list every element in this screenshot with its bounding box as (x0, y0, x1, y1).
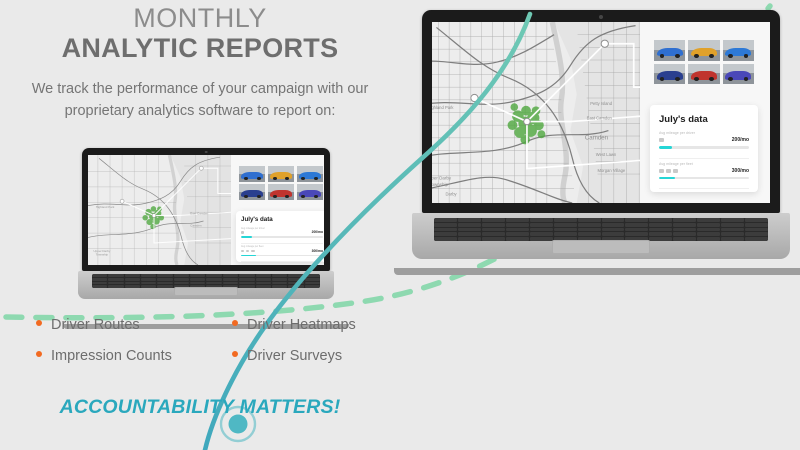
keyboard-key[interactable] (174, 274, 189, 277)
keyboard-key[interactable] (141, 274, 156, 277)
keyboard-key[interactable] (673, 218, 696, 222)
laptop-small-lid: CamdenUpper DarbyTownship Highland ParkE… (82, 148, 330, 271)
keyboard-key[interactable] (141, 278, 156, 281)
metric-divider (241, 261, 323, 262)
keyboard-key[interactable] (602, 232, 625, 236)
keyboard-key[interactable] (745, 228, 768, 232)
keyboard-key[interactable] (272, 274, 287, 277)
keyboard-key[interactable] (108, 285, 123, 288)
keyboard-key[interactable] (125, 282, 140, 285)
keyboard-key[interactable] (506, 232, 529, 236)
keyboard-key[interactable] (697, 218, 720, 222)
keyboard-key[interactable] (157, 282, 172, 285)
bullet-label: Driver Routes (51, 318, 140, 333)
keyboard-key[interactable] (530, 218, 553, 222)
car-wheel (675, 54, 680, 58)
page-title-line2: ANALYTIC REPORTS (0, 34, 400, 64)
keyboard-key[interactable] (157, 274, 172, 277)
keyboard-key[interactable] (434, 237, 457, 241)
bullet-row: Driver Routes Driver Heatmaps (36, 318, 396, 349)
keyboard-key[interactable] (125, 278, 140, 281)
keyboard-key[interactable] (649, 232, 672, 236)
keyboard-key[interactable] (673, 232, 696, 236)
metric-count-icon (659, 169, 678, 173)
car-wheel (728, 54, 733, 58)
keyboard-key[interactable] (305, 282, 320, 285)
keyboard-key[interactable] (434, 232, 457, 236)
keyboard-key[interactable] (458, 223, 481, 227)
map-icon: Camden Upper Darby Township Highland Par… (432, 22, 640, 203)
keyboard-key[interactable] (239, 285, 254, 288)
keyboard-key[interactable] (157, 278, 172, 281)
metrics-list-small: Avg mileage per driver200/moAvg mileage … (241, 227, 323, 263)
keyboard-key[interactable] (206, 274, 221, 277)
car-wheel (709, 54, 714, 58)
camera-icon (205, 151, 208, 154)
intro-paragraph: We track the performance of your campaig… (14, 78, 386, 123)
metrics-list-large: Avg mileage per driver200/moAvg mileage … (659, 131, 749, 192)
bullet-label: Driver Heatmaps (247, 318, 356, 333)
keyboard-key[interactable] (554, 218, 577, 222)
keyboard-key[interactable] (92, 278, 107, 281)
keyboard-key[interactable] (554, 228, 577, 232)
keyboard-key[interactable] (578, 223, 601, 227)
metric-value-row: 300/mo (241, 248, 323, 253)
keyboard-key[interactable] (239, 274, 254, 277)
keyboard-key[interactable] (108, 282, 123, 285)
metric-progress-fill (659, 146, 672, 149)
laptop-large-screen: Camden Upper Darby Township Highland Par… (432, 22, 770, 203)
svg-text:Petty Island: Petty Island (590, 101, 612, 106)
car-wheel (301, 177, 305, 180)
trackpad-small[interactable] (174, 287, 238, 296)
keyboard-key[interactable] (530, 228, 553, 232)
metric-divider (659, 158, 749, 159)
keyboard-key[interactable] (174, 282, 189, 285)
laptop-large: Camden Upper Darby Township Highland Par… (412, 10, 790, 259)
metric-progress-fill (241, 236, 252, 238)
metric-divider (241, 243, 323, 244)
trackpad-large[interactable] (552, 240, 650, 254)
keyboard-key[interactable] (174, 278, 189, 281)
bullet-dot-icon (36, 320, 42, 326)
keyboard-key[interactable] (673, 228, 696, 232)
svg-text:Darby: Darby (446, 192, 458, 197)
keyboard-key[interactable] (190, 282, 205, 285)
keyboard-key[interactable] (625, 232, 648, 236)
keyboard-key[interactable] (721, 218, 744, 222)
keyboard-key[interactable] (530, 237, 553, 241)
feature-bullet-list: Driver Routes Driver Heatmaps Impression… (36, 318, 396, 380)
keyboard-key[interactable] (649, 218, 672, 222)
metric-row: Avg mileage per driver200/mo (659, 131, 749, 149)
keyboard-small[interactable] (92, 274, 320, 288)
bullet-row: Impression Counts Driver Surveys (36, 349, 396, 380)
keyboard-key[interactable] (625, 218, 648, 222)
keyboard-key[interactable] (92, 282, 107, 285)
keyboard-key[interactable] (190, 274, 205, 277)
keyboard-key[interactable] (256, 285, 271, 288)
thumbnail-wrapped-car-navy-red[interactable] (654, 64, 685, 85)
bullet-dot-icon (232, 351, 238, 357)
keyboard-key[interactable] (721, 232, 744, 236)
keyboard-key[interactable] (482, 218, 505, 222)
metric-value: 300/mo (312, 249, 323, 253)
metric-progress-track (659, 146, 749, 149)
metric-count-icon (241, 231, 244, 234)
keyboard-key[interactable] (458, 237, 481, 241)
card-title-large: July's data (659, 114, 749, 125)
keyboard-key[interactable] (141, 285, 156, 288)
thumbnail-wrapped-car-navy-red[interactable] (239, 184, 265, 200)
thumbnail-wrapped-car-yellow-red[interactable] (268, 166, 294, 182)
keyboard-key[interactable] (239, 278, 254, 281)
svg-text:West Lawn: West Lawn (596, 152, 617, 157)
keyboard-key[interactable] (108, 274, 123, 277)
keyboard-key[interactable] (578, 218, 601, 222)
slide-canvas: MONTHLY ANALYTIC REPORTS We track the pe… (0, 0, 800, 450)
camera-icon (599, 15, 603, 19)
svg-text:Highland Park: Highland Park (96, 205, 115, 209)
keyboard-key[interactable] (458, 218, 481, 222)
keyboard-key[interactable] (721, 228, 744, 232)
data-card-small: July's data Avg mileage per driver200/mo… (236, 211, 324, 262)
keyboard-key[interactable] (721, 223, 744, 227)
keyboard-key[interactable] (458, 232, 481, 236)
keyboard-key[interactable] (458, 228, 481, 232)
keyboard-key[interactable] (434, 218, 457, 222)
map-panel-small[interactable]: CamdenUpper DarbyTownship Highland ParkE… (88, 155, 231, 265)
keyboard-key[interactable] (206, 278, 221, 281)
keyboard-key[interactable] (721, 237, 744, 241)
keyboard-key[interactable] (578, 228, 601, 232)
metric-divider (659, 188, 749, 189)
keyboard-key[interactable] (697, 223, 720, 227)
keyboard-key[interactable] (697, 237, 720, 241)
keyboard-key[interactable] (578, 232, 601, 236)
metric-progress-track (659, 177, 749, 180)
metric-value-row: 200/mo (659, 136, 749, 144)
svg-text:East Camden: East Camden (587, 116, 613, 121)
keyboard-key[interactable] (649, 223, 672, 227)
keyboard-key[interactable] (125, 285, 140, 288)
keyboard-key[interactable] (305, 285, 320, 288)
keyboard-key[interactable] (506, 223, 529, 227)
keyboard-key[interactable] (141, 282, 156, 285)
metric-row: Avg impressions per driver20,000/mo (241, 261, 323, 262)
car-wheel (273, 177, 277, 180)
thumbnail-wrapped-car-blue[interactable] (654, 40, 685, 61)
svg-text:Camden: Camden (190, 224, 202, 228)
keyboard-key[interactable] (745, 218, 768, 222)
keyboard-key[interactable] (649, 237, 672, 241)
keyboard-large[interactable] (434, 218, 768, 241)
thumbnail-wrapped-car-violet[interactable] (297, 184, 323, 200)
car-wheel (694, 54, 699, 58)
car-wheel (660, 54, 665, 58)
keyboard-key[interactable] (506, 218, 529, 222)
keyboard-key[interactable] (530, 232, 553, 236)
svg-text:Camden: Camden (585, 135, 609, 142)
keyboard-key[interactable] (482, 232, 505, 236)
bullet-label: Driver Surveys (247, 349, 342, 364)
car-wheel (257, 177, 261, 180)
keyboard-key[interactable] (223, 274, 238, 277)
bullet-dot-icon (36, 351, 42, 357)
car-wheel (244, 177, 248, 180)
svg-text:Upper Darby: Upper Darby (432, 175, 452, 180)
keyboard-key[interactable] (288, 274, 303, 277)
keyboard-key[interactable] (625, 228, 648, 232)
metric-value-row: 200/mo (241, 230, 323, 235)
keyboard-key[interactable] (530, 223, 553, 227)
laptop-small-screen: CamdenUpper DarbyTownship Highland ParkE… (88, 155, 324, 265)
car-wheel (273, 195, 277, 198)
map-icon: CamdenUpper DarbyTownship Highland ParkE… (88, 155, 231, 265)
keyboard-key[interactable] (482, 228, 505, 232)
title-block: MONTHLY ANALYTIC REPORTS (0, 4, 400, 64)
metric-count-icon (659, 138, 664, 142)
keyboard-key[interactable] (239, 282, 254, 285)
bullet-item-driver-heatmaps: Driver Heatmaps (232, 318, 392, 349)
keyboard-key[interactable] (108, 278, 123, 281)
laptop-large-base (412, 213, 790, 259)
bullet-item-driver-routes: Driver Routes (36, 318, 232, 349)
metric-progress-track (241, 236, 323, 238)
metric-progress-track (241, 255, 323, 257)
bullet-label: Impression Counts (51, 349, 172, 364)
keyboard-key[interactable] (272, 285, 287, 288)
car-wheel (257, 195, 261, 198)
map-panel-large[interactable]: Camden Upper Darby Township Highland Par… (432, 22, 640, 203)
dashboard-panel-small: July's data Avg mileage per driver200/mo… (231, 155, 324, 265)
metric-value-row: 300/mo (659, 167, 749, 175)
thumbnail-wrapped-car-blue-white[interactable] (723, 40, 754, 61)
bullet-dot-icon (232, 320, 238, 326)
metric-progress-fill (241, 255, 256, 257)
keyboard-key[interactable] (602, 228, 625, 232)
keyboard-key[interactable] (288, 282, 303, 285)
keyboard-key[interactable] (206, 282, 221, 285)
dashboard-panel-large: July's data Avg mileage per driver200/mo… (640, 22, 770, 203)
thumbnail-wrapped-car-blue-white[interactable] (297, 166, 323, 182)
laptop-large-lid: Camden Upper Darby Township Highland Par… (422, 10, 780, 213)
svg-text:Morgan Village: Morgan Village (598, 168, 626, 173)
metric-row: Avg mileage per fleet300/mo (659, 158, 749, 180)
page-title-line1: MONTHLY (0, 4, 400, 33)
metric-value: 300/mo (732, 168, 749, 174)
keyboard-key[interactable] (434, 223, 457, 227)
keyboard-key[interactable] (434, 228, 457, 232)
svg-text:Township: Township (96, 253, 109, 257)
keyboard-key[interactable] (697, 228, 720, 232)
metric-row: Avg impressions per driver20,000/mo (659, 188, 749, 192)
svg-text:Township: Township (432, 182, 449, 187)
keyboard-key[interactable] (554, 232, 577, 236)
bullet-item-driver-surveys: Driver Surveys (232, 349, 392, 380)
keyboard-key[interactable] (602, 218, 625, 222)
keyboard-key[interactable] (482, 237, 505, 241)
keyboard-key[interactable] (305, 278, 320, 281)
thumbnail-wrapped-car-red[interactable] (268, 184, 294, 200)
keyboard-key[interactable] (157, 285, 172, 288)
keyboard-key[interactable] (288, 285, 303, 288)
thumbnail-wrapped-car-yellow-red[interactable] (688, 40, 719, 61)
keyboard-key[interactable] (649, 228, 672, 232)
keyboard-key[interactable] (697, 232, 720, 236)
keyboard-key[interactable] (92, 274, 107, 277)
keyboard-key[interactable] (125, 274, 140, 277)
keyboard-key[interactable] (506, 228, 529, 232)
laptop-small: CamdenUpper DarbyTownship Highland ParkE… (78, 148, 334, 299)
keyboard-key[interactable] (745, 223, 768, 227)
bullet-item-impression-counts: Impression Counts (36, 349, 232, 380)
keyboard-key[interactable] (288, 278, 303, 281)
keyboard-key[interactable] (602, 223, 625, 227)
thumbnail-grid-large (654, 40, 754, 84)
thumbnail-wrapped-car-violet[interactable] (723, 64, 754, 85)
keyboard-key[interactable] (482, 223, 505, 227)
data-card-large: July's data Avg mileage per driver200/mo… (650, 105, 758, 192)
keyboard-key[interactable] (223, 278, 238, 281)
keyboard-key[interactable] (256, 274, 271, 277)
metric-value: 200/mo (732, 137, 749, 143)
thumbnail-wrapped-car-red[interactable] (688, 64, 719, 85)
car-wheel (314, 177, 318, 180)
keyboard-key[interactable] (506, 237, 529, 241)
keyboard-key[interactable] (625, 223, 648, 227)
car-wheel (744, 54, 749, 58)
laptop-large-foot (394, 268, 800, 275)
keyboard-key[interactable] (673, 237, 696, 241)
keyboard-key[interactable] (223, 282, 238, 285)
metric-value: 200/mo (312, 230, 323, 234)
metric-count-icon (241, 250, 255, 253)
keyboard-key[interactable] (272, 278, 287, 281)
metric-row: Avg mileage per fleet300/mo (241, 243, 323, 257)
keyboard-key[interactable] (745, 237, 768, 241)
keyboard-key[interactable] (92, 285, 107, 288)
keyboard-key[interactable] (554, 223, 577, 227)
card-title-small: July's data (241, 216, 323, 223)
thumbnail-wrapped-car-blue[interactable] (239, 166, 265, 182)
keyboard-key[interactable] (673, 223, 696, 227)
car-wheel (244, 195, 248, 198)
keyboard-key[interactable] (272, 282, 287, 285)
svg-text:Highland Park: Highland Park (432, 105, 454, 110)
keyboard-key[interactable] (305, 274, 320, 277)
laptop-small-base (78, 271, 334, 299)
metric-row: Avg mileage per driver200/mo (241, 227, 323, 238)
keyboard-key[interactable] (256, 282, 271, 285)
metric-progress-fill (659, 177, 675, 180)
keyboard-key[interactable] (190, 278, 205, 281)
tagline: ACCOUNTABILITY MATTERS! (0, 396, 400, 419)
svg-text:East Camden: East Camden (190, 211, 208, 215)
keyboard-key[interactable] (256, 278, 271, 281)
thumbnail-grid-small (239, 166, 323, 200)
keyboard-key[interactable] (745, 232, 768, 236)
